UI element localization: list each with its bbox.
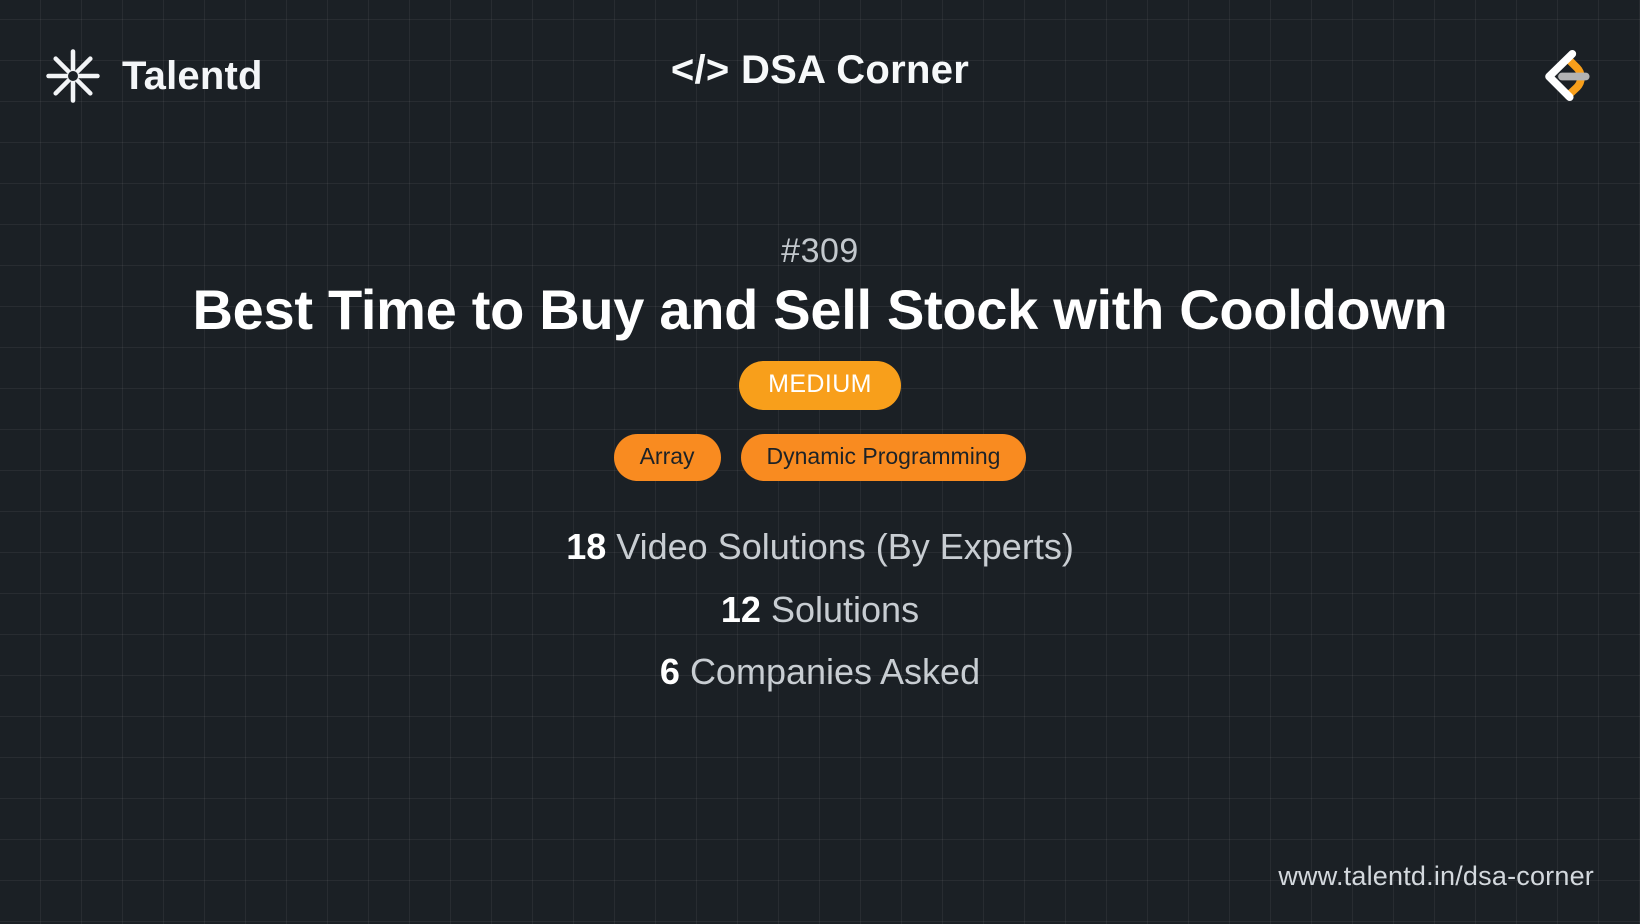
footer-url[interactable]: www.talentd.in/dsa-corner (1278, 861, 1594, 892)
tag-pill[interactable]: Dynamic Programming (741, 434, 1027, 481)
stat-row: 12 Solutions (721, 586, 919, 635)
problem-card: #309 Best Time to Buy and Sell Stock wit… (0, 232, 1640, 697)
problem-title: Best Time to Buy and Sell Stock with Coo… (193, 277, 1448, 343)
dsa-corner-poster: Talentd </> DSA Corner #309 Best Time to… (0, 0, 1640, 924)
difficulty-badge: MEDIUM (739, 361, 901, 410)
stat-label: Solutions (771, 589, 919, 630)
problem-number: #309 (781, 232, 859, 271)
stat-label: Video Solutions (By Experts) (616, 526, 1074, 567)
brand-name: Talentd (122, 54, 263, 99)
stat-row: 18 Video Solutions (By Experts) (566, 523, 1074, 572)
tag-pill[interactable]: Array (614, 434, 721, 481)
stats-list: 18 Video Solutions (By Experts) 12 Solut… (566, 523, 1074, 697)
stat-row: 6 Companies Asked (660, 648, 980, 697)
stat-value: 12 (721, 589, 761, 630)
poster-header: Talentd </> DSA Corner (0, 0, 1640, 152)
starburst-asterisk-icon (44, 47, 102, 105)
tag-list: Array Dynamic Programming (614, 434, 1027, 481)
stat-value: 6 (660, 651, 680, 692)
stat-label: Companies Asked (690, 651, 980, 692)
leetcode-logo-icon (1530, 43, 1596, 109)
stat-value: 18 (566, 526, 606, 567)
brand-logo: Talentd (44, 47, 263, 105)
